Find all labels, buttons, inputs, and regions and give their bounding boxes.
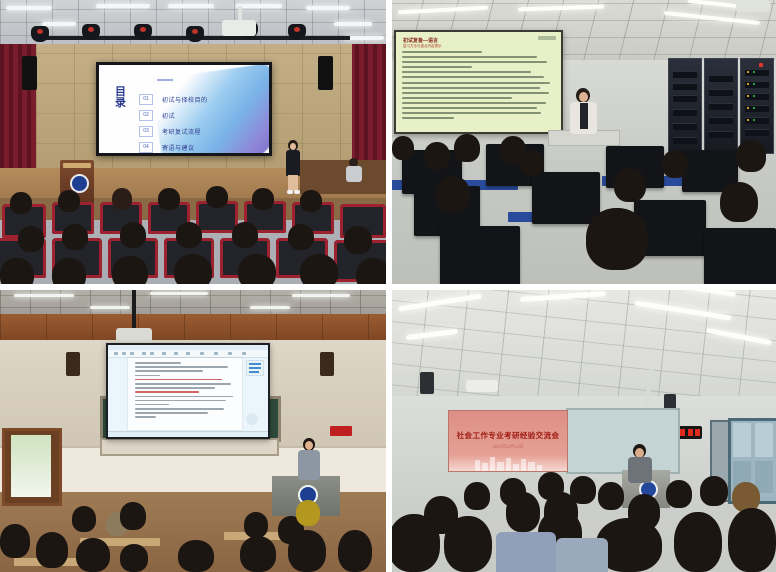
ceiling-light [236, 4, 282, 8]
ceiling-light [168, 4, 214, 8]
audience-head [52, 258, 86, 286]
projection-screen: 目录 01 初试与择校目的 02 初试 03 考研复试流程 [96, 62, 272, 156]
ceiling-light [14, 294, 74, 297]
audience-head [0, 524, 30, 558]
speaker-left [420, 372, 434, 394]
lecture-hall-photo: 阶梯教室文档讲解 [0, 286, 388, 572]
student-head [586, 208, 648, 270]
slide-toc-list: 01 初试与择校目的 02 初试 03 考研复试流程 04 寄语与建议 [139, 91, 259, 155]
staff-body [346, 166, 362, 182]
projector-mount [132, 290, 136, 328]
audience-head [344, 226, 372, 254]
podium-nameplate [63, 163, 91, 168]
toc-item-number: 04 [139, 142, 153, 153]
slide-date: 2021年5月14日 [449, 444, 567, 450]
audience-head [666, 480, 692, 508]
audience-head [0, 258, 34, 286]
audience-head [338, 530, 372, 572]
server-rack [704, 58, 738, 154]
audience-seating [0, 196, 388, 286]
slide-city-silhouette [521, 459, 526, 471]
audience-head [174, 254, 212, 286]
slide-city-silhouette [528, 462, 535, 471]
instructor-top [580, 103, 588, 129]
slide-city-silhouette [475, 460, 480, 471]
audience-head [240, 536, 276, 572]
lab-monitor [704, 228, 776, 286]
document-status-bar [108, 431, 268, 437]
ceiling-light [150, 292, 208, 295]
audience-head [674, 512, 722, 572]
photo-collage: 目录 01 初试与择校目的 02 初试 03 考研复试流程 [0, 0, 776, 572]
ceiling-projector-icon [116, 328, 152, 342]
audience-head [120, 222, 146, 248]
audience-head [388, 514, 440, 572]
server-rack-with-leds [740, 58, 774, 154]
collage-panel-lecture-hall[interactable]: 阶梯教室文档讲解 [0, 286, 388, 572]
audience-head [62, 224, 88, 250]
exit-door [2, 428, 62, 506]
toc-item: 02 初试 [139, 107, 259, 123]
audience-person [496, 532, 556, 572]
server-rack-group [668, 58, 774, 154]
student-head [736, 140, 766, 172]
audience-head [288, 224, 314, 250]
student-head [392, 136, 414, 160]
slide-subheading: 复习方法与重点内容提示 [403, 44, 442, 49]
presenter-legs [288, 175, 298, 191]
slide-rule [157, 79, 173, 81]
audience-head [238, 254, 276, 286]
audience-head [728, 508, 776, 572]
audience-head [288, 530, 326, 572]
audience-head [178, 540, 214, 572]
ceiling-light [334, 22, 372, 26]
slide-city-silhouette [482, 463, 488, 471]
stage-spotlight [134, 24, 152, 40]
speaker-right [318, 56, 333, 90]
ceiling-light [250, 306, 290, 309]
student-head [720, 182, 758, 222]
ceiling-light [6, 6, 52, 10]
stage-spotlight [288, 24, 306, 40]
stage-spotlight [186, 26, 204, 42]
status-led [753, 71, 755, 73]
power-led [759, 63, 763, 67]
audience-head [300, 254, 338, 286]
audience-head [356, 258, 388, 286]
status-led [747, 95, 749, 97]
audience-head [120, 502, 146, 530]
classroom-photo: 社会工作专业考研经验交流会 2021年5月14日 [388, 286, 776, 572]
audience-head [206, 186, 228, 208]
wood-paneling [0, 314, 388, 342]
speaker-left [66, 352, 80, 376]
audience-head [18, 226, 44, 252]
ceiling-light [306, 6, 350, 10]
slide-city-silhouette [513, 464, 519, 471]
document-watermark [246, 413, 258, 425]
student-head [424, 142, 450, 170]
speaker-right [320, 352, 334, 376]
presenter-shirt [628, 457, 652, 483]
presenter-face [305, 441, 313, 450]
side-table [300, 160, 388, 194]
status-led [753, 95, 755, 97]
collage-gutter-horizontal [0, 284, 776, 290]
instructor-face [579, 92, 588, 102]
ceiling-light [292, 294, 350, 297]
audience-head [232, 222, 258, 248]
projection-screen [106, 343, 270, 439]
status-led [747, 83, 749, 85]
audience-head [444, 516, 492, 572]
presenter-face [290, 143, 296, 150]
slide-city-silhouette [497, 462, 504, 471]
slide-body-text [402, 51, 555, 122]
chalk-tray [100, 438, 279, 456]
lab-monitor [440, 226, 520, 286]
ceiling-projector-icon [736, 0, 770, 12]
window-pane [755, 423, 773, 457]
toc-item-number: 01 [139, 94, 153, 105]
whiteboard [566, 408, 680, 474]
audience-torso [556, 538, 608, 572]
audience-head [176, 222, 202, 248]
projection-screen: 初试复备—语言 复习方法与重点内容提示 [394, 30, 563, 134]
toc-item: 03 考研复试流程 [139, 123, 259, 139]
audience-head [464, 482, 490, 510]
toc-item-number: 03 [139, 126, 153, 137]
server-rack [668, 58, 702, 154]
door-glass [11, 435, 51, 497]
student-head [436, 176, 470, 212]
audience-person [556, 538, 608, 572]
ceiling-light [90, 306, 130, 309]
status-led [747, 71, 749, 73]
audience-head [296, 500, 320, 526]
slide-city-silhouette [506, 458, 511, 471]
projection-screen: 社会工作专业考研经验交流会 2021年5月14日 [448, 410, 568, 472]
stage-curtain-right [346, 44, 388, 174]
presenter-shirt [298, 450, 320, 480]
slide-city-silhouette [537, 465, 542, 471]
audience-head [36, 532, 68, 568]
collage-panel-auditorium[interactable]: 目录 01 初试与择校目的 02 初试 03 考研复试流程 [0, 0, 388, 286]
status-led [747, 107, 749, 109]
document-toolbar [108, 350, 268, 358]
audience-head [506, 492, 540, 532]
toc-item: 01 初试与择校目的 [139, 91, 259, 107]
ceiling-light [96, 4, 150, 8]
stage-spotlight [31, 26, 49, 42]
auditorium-photo: 目录 01 初试与择校目的 02 初试 03 考研复试流程 [0, 0, 388, 286]
audience-head [10, 192, 32, 214]
audience-head [120, 544, 148, 572]
status-led [747, 119, 749, 121]
toc-item-label: 考研复试流程 [162, 127, 201, 136]
slide-city-silhouette [490, 457, 495, 471]
student-head [454, 134, 480, 162]
presenter-shoe [294, 190, 300, 194]
seated-staff [346, 158, 362, 182]
ceiling-light [42, 22, 76, 26]
audience-head [598, 482, 624, 510]
navigation-pane [246, 360, 264, 376]
student-head [662, 150, 688, 178]
audience-head [252, 188, 274, 210]
toc-item-number: 02 [139, 110, 153, 121]
toc-item: 04 寄语与建议 [139, 139, 259, 155]
slide-heading: 初试复备—语言 [403, 37, 438, 44]
status-led [753, 83, 755, 85]
slide-heading: 目录 [115, 87, 129, 109]
audience-head [244, 512, 268, 538]
stage-spotlight [82, 24, 100, 40]
audience-head [76, 538, 110, 572]
audience-head [158, 188, 180, 210]
student-head [614, 168, 646, 202]
collage-panel-classroom[interactable]: 社会工作专业考研经验交流会 2021年5月14日 [388, 286, 776, 572]
speaker-left [22, 56, 37, 90]
audience-head [112, 188, 132, 210]
computer-lab-photo: 初试复备—语言 复习方法与重点内容提示 [388, 0, 776, 286]
collage-panel-computer-lab[interactable]: 初试复备—语言 复习方法与重点内容提示 [388, 0, 776, 286]
fire-safety-sign [330, 426, 352, 436]
projector-watermark [538, 36, 556, 40]
audience-head [72, 506, 96, 532]
audience-head [700, 476, 728, 506]
audience-head [300, 190, 322, 212]
ceiling-projector-icon [222, 20, 256, 36]
status-led [753, 119, 755, 121]
ceiling-projector-icon [466, 380, 498, 392]
lab-monitor [532, 172, 600, 224]
presenter-shoe [287, 190, 293, 194]
audience-head [58, 190, 80, 212]
toc-item-label: 寄语与建议 [162, 143, 195, 152]
window-pane [733, 423, 751, 457]
toc-item-label: 初试 [162, 111, 175, 120]
student-head [520, 150, 544, 176]
status-led [753, 107, 755, 109]
presenter-dress [286, 150, 300, 176]
slide-title: 社会工作专业考研经验交流会 [449, 430, 567, 441]
toc-item-label: 初试与择校目的 [162, 95, 208, 104]
audience-torso [496, 532, 556, 572]
audience-head [112, 256, 148, 286]
document-page [128, 358, 242, 430]
